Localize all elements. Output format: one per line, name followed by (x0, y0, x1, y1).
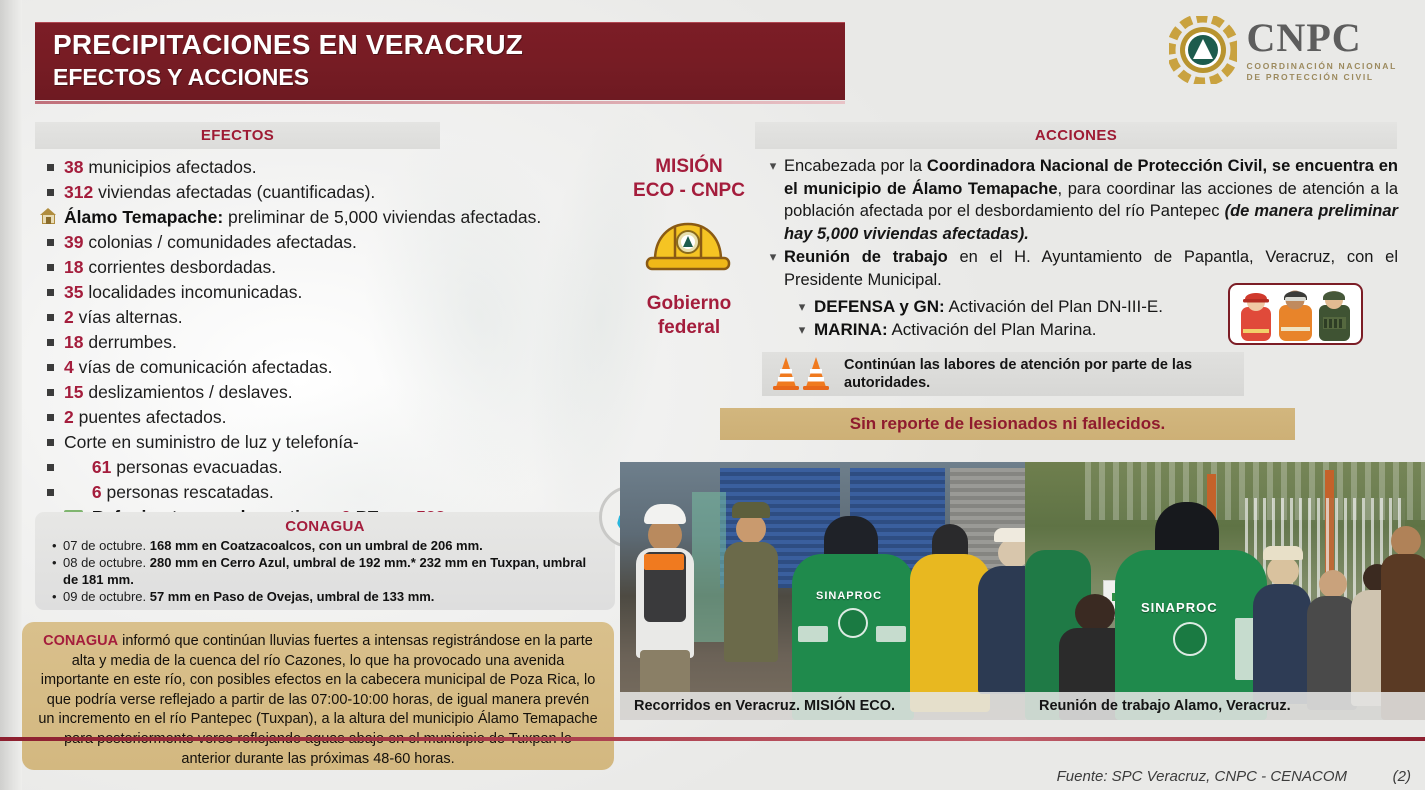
sin-reporte-banner: Sin reporte de lesionados ni fallecidos. (720, 408, 1295, 440)
conagua-panel-title: CONAGUA (47, 518, 603, 535)
efecto-number: 2 (64, 407, 74, 427)
title-line-2: EFECTOS Y ACCIONES (53, 62, 845, 92)
jacket-label-1: SINAPROC (816, 590, 882, 602)
efecto-number: 15 (64, 382, 83, 402)
cones-notice-panel: Continúan las labores de atención por pa… (762, 352, 1244, 396)
federal-action-item: ▾DEFENSA y GN: Activación del Plan DN-II… (790, 295, 1260, 318)
efecto-item: 35 localidades incomunicadas. (40, 280, 615, 305)
conagua-narrative-body: informó que continúan lluvias fuertes a … (38, 633, 597, 767)
photo-strip: SINAPROC Recorridos en Veracruz. MISIÓN … (620, 462, 1425, 720)
people-icon (64, 459, 83, 476)
efecto-text: localidades incomunicadas. (83, 282, 302, 302)
gobierno-label-line-2: federal (628, 316, 750, 340)
efecto-body: Álamo Temapache: preliminar de 5,000 viv… (64, 205, 615, 230)
mision-label-line-1: MISIÓN (628, 155, 750, 179)
accion-bullet-icon: ▾ (762, 246, 784, 268)
efecto-body: 2 vías alternas. (64, 305, 615, 330)
logo-subtitle-line-2: DE PROTECCIÓN CIVIL (1247, 72, 1397, 83)
conagua-row: •09 de octubre. 57 mm en Paso de Ovejas,… (47, 588, 603, 605)
efecto-item: 2 vías alternas. (40, 305, 615, 330)
mision-label-line-2: ECO - CNPC (628, 179, 750, 203)
efecto-item: Álamo Temapache: preliminar de 5,000 viv… (40, 205, 615, 230)
federal-action-label: MARINA: (814, 320, 888, 339)
section-header-acciones: ACCIONES (755, 122, 1397, 149)
efecto-number: 38 (64, 157, 83, 177)
efecto-body: 312 viviendas afectadas (cuantificadas). (64, 180, 615, 205)
efecto-item: 18 corrientes desbordadas. (40, 255, 615, 280)
cnpc-emblem-icon (1169, 16, 1237, 84)
federal-actions-list: ▾DEFENSA y GN: Activación del Plan DN-II… (790, 295, 1260, 341)
efecto-number: 2 (64, 307, 74, 327)
efecto-number: 39 (64, 232, 83, 252)
photo-caption-1: Recorridos en Veracruz. MISIÓN ECO. (634, 698, 895, 714)
cones-notice-text: Continúan las labores de atención por pa… (844, 356, 1244, 392)
gobierno-federal-label: Gobierno federal (628, 292, 750, 340)
efecto-text: viviendas afectadas (cuantificadas). (93, 182, 375, 202)
photo-caption-2: Reunión de trabajo Alamo, Veracruz. (1039, 698, 1291, 714)
efecto-body: 39 colonias / comunidades afectadas. (64, 230, 615, 255)
footer-source: Fuente: SPC Veracruz, CNPC - CENACOM (1057, 768, 1347, 785)
efecto-text: colonias / comunidades afectadas. (83, 232, 356, 252)
efecto-item: 6 personas rescatadas. (40, 480, 615, 505)
efecto-body: 15 deslizamientos / deslaves. (64, 380, 615, 405)
efecto-number: 18 (64, 257, 83, 277)
conagua-row-text: 08 de octubre. 280 mm en Cerro Azul, umb… (63, 554, 603, 588)
efecto-text: Corte en suministro de luz y telefonía- (64, 432, 359, 452)
efecto-body: 2 puentes afectados. (64, 405, 615, 430)
efecto-text: personas evacuadas. (111, 457, 282, 477)
efecto-number: 6 (92, 482, 102, 502)
logo-acronym: CNPC (1247, 18, 1397, 58)
accion-pre: Encabezada por la (784, 157, 927, 175)
accion-bullet-icon: ▾ (762, 155, 784, 177)
emergency-personnel-icon (1228, 283, 1363, 345)
federal-action-body: DEFENSA y GN: Activación del Plan DN-III… (814, 295, 1163, 318)
efecto-number: 61 (92, 457, 111, 477)
conagua-date: 07 de octubre. (63, 538, 150, 553)
efecto-bullet (40, 180, 64, 205)
slide-title-bar: PRECIPITACIONES EN VERACRUZ EFECTOS Y AC… (35, 22, 845, 100)
logo-subtitle-line-1: COORDINACIÓN NACIONAL (1247, 61, 1397, 72)
efecto-text: puentes afectados. (74, 407, 227, 427)
house-icon (40, 208, 57, 224)
efecto-bullet (40, 255, 64, 280)
federal-bullet-icon: ▾ (790, 295, 814, 318)
efecto-item: 2 puentes afectados. (40, 405, 615, 430)
efecto-bullet (40, 305, 64, 330)
conagua-narrative-box: CONAGUA informó que continúan lluvias fu… (22, 622, 614, 770)
conagua-bullet: • (47, 537, 63, 554)
efecto-bullet (40, 155, 64, 180)
footer-divider (0, 737, 1425, 741)
traffic-cones-icon (772, 353, 834, 396)
efecto-bullet (40, 455, 64, 480)
conagua-row-text: 09 de octubre. 57 mm en Paso de Ovejas, … (63, 588, 603, 605)
efecto-body: 4 vías de comunicación afectadas. (64, 355, 615, 380)
federal-action-label: DEFENSA y GN: (814, 297, 945, 316)
acciones-heading-label: ACCIONES (1035, 127, 1117, 144)
efecto-bullet (40, 330, 64, 355)
federal-bullet-icon: ▾ (790, 318, 814, 341)
federal-action-text: Activación del Plan Marina. (888, 320, 1097, 339)
conagua-bullet: • (47, 588, 63, 605)
efecto-text: deslizamientos / deslaves. (83, 382, 292, 402)
photo-caption-2-wrap: Reunión de trabajo Alamo, Veracruz. (1025, 692, 1425, 720)
efecto-number: 35 (64, 282, 83, 302)
title-line-1: PRECIPITACIONES EN VERACRUZ (53, 28, 845, 62)
conagua-date: 08 de octubre. (63, 555, 150, 570)
page-number: (2) (1393, 768, 1411, 785)
efecto-text: vías de comunicación afectadas. (74, 357, 333, 377)
accion-item: ▾Encabezada por la Coordinadora Nacional… (762, 155, 1398, 245)
sin-reporte-text: Sin reporte de lesionados ni fallecidos. (850, 414, 1166, 434)
efecto-number: 4 (64, 357, 74, 377)
efecto-text: preliminar de 5,000 viviendas afectadas. (223, 207, 541, 227)
conagua-row: •08 de octubre. 280 mm en Cerro Azul, um… (47, 554, 603, 588)
conagua-detail: 57 mm en Paso de Ovejas, umbral de 133 m… (150, 589, 435, 604)
efecto-body: 38 municipios afectados. (64, 155, 615, 180)
efecto-body: 18 corrientes desbordadas. (64, 255, 615, 280)
hard-hat-icon (641, 216, 735, 278)
left-edge-rail (0, 0, 22, 790)
efecto-item: 312 viviendas afectadas (cuantificadas). (40, 180, 615, 205)
conagua-row-list: •07 de octubre. 168 mm en Coatzacoalcos,… (47, 537, 603, 605)
efecto-text: derrumbes. (83, 332, 176, 352)
cnpc-logo: CNPC COORDINACIÓN NACIONAL DE PROTECCIÓN… (1169, 16, 1397, 84)
efecto-bullet (40, 205, 64, 230)
efecto-bullet (40, 230, 64, 255)
efectos-list: 38 municipios afectados.312 viviendas af… (40, 155, 615, 530)
acciones-list: ▾Encabezada por la Coordinadora Nacional… (762, 155, 1398, 292)
conagua-row: •07 de octubre. 168 mm en Coatzacoalcos,… (47, 537, 603, 554)
efecto-item: Corte en suministro de luz y telefonía- (40, 430, 615, 455)
efecto-item: 38 municipios afectados. (40, 155, 615, 180)
efecto-number: 312 (64, 182, 93, 202)
jacket-label-2: SINAPROC (1141, 600, 1218, 615)
efectos-heading-label: EFECTOS (201, 127, 274, 144)
efecto-bullet (40, 430, 64, 455)
photo-recorridos-veracruz: SINAPROC Recorridos en Veracruz. MISIÓN … (620, 462, 1025, 720)
federal-action-item: ▾MARINA: Activación del Plan Marina. (790, 318, 1260, 341)
people-icon (64, 484, 83, 501)
efecto-item: 4 vías de comunicación afectadas. (40, 355, 615, 380)
conagua-narrative-keyword: CONAGUA (43, 633, 118, 649)
accion-body: Encabezada por la Coordinadora Nacional … (784, 155, 1398, 245)
federal-action-text: Activación del Plan DN-III-E. (945, 297, 1163, 316)
efecto-item: 18 derrumbes. (40, 330, 615, 355)
efecto-bullet (40, 480, 64, 505)
efecto-text: vías alternas. (74, 307, 183, 327)
photo-reunion-alamo: SINAPROC Reunión de trabajo Alamo, Verac… (1025, 462, 1425, 720)
conagua-date: 09 de octubre. (63, 589, 150, 604)
conagua-row-text: 07 de octubre. 168 mm en Coatzacoalcos, … (63, 537, 603, 554)
efecto-body: 61 personas evacuadas. (64, 455, 615, 480)
logo-text-block: CNPC COORDINACIÓN NACIONAL DE PROTECCIÓN… (1247, 18, 1397, 83)
conagua-bullet: • (47, 554, 63, 588)
mision-eco-label: MISIÓN ECO - CNPC (628, 155, 750, 203)
efecto-item: 39 colonias / comunidades afectadas. (40, 230, 615, 255)
efecto-text: corrientes desbordadas. (83, 257, 276, 277)
efecto-bullet (40, 380, 64, 405)
efecto-text: municipios afectados. (83, 157, 256, 177)
conagua-data-panel: CONAGUA •07 de octubre. 168 mm en Coatza… (35, 512, 615, 610)
photo-caption-1-wrap: Recorridos en Veracruz. MISIÓN ECO. (620, 692, 1025, 720)
efecto-item: 61 personas evacuadas. (40, 455, 615, 480)
efecto-body: 35 localidades incomunicadas. (64, 280, 615, 305)
efecto-item: 15 deslizamientos / deslaves. (40, 380, 615, 405)
logo-subtitle: COORDINACIÓN NACIONAL DE PROTECCIÓN CIVI… (1247, 61, 1397, 83)
efecto-body: 18 derrumbes. (64, 330, 615, 355)
efecto-number: 18 (64, 332, 83, 352)
efecto-text: personas rescatadas. (102, 482, 274, 502)
title-underline (35, 101, 845, 104)
efecto-bullet (40, 405, 64, 430)
accion-bold: Reunión de trabajo (784, 248, 948, 266)
efecto-body: Corte en suministro de luz y telefonía- (64, 430, 615, 455)
efecto-lead: Álamo Temapache: (64, 207, 223, 227)
efecto-body: 6 personas rescatadas. (64, 480, 615, 505)
efecto-bullet (40, 280, 64, 305)
federal-action-body: MARINA: Activación del Plan Marina. (814, 318, 1097, 341)
section-header-efectos: EFECTOS (35, 122, 440, 149)
gobierno-label-line-1: Gobierno (628, 292, 750, 316)
efecto-bullet (40, 355, 64, 380)
conagua-detail: 168 mm en Coatzacoalcos, con un umbral d… (150, 538, 483, 553)
